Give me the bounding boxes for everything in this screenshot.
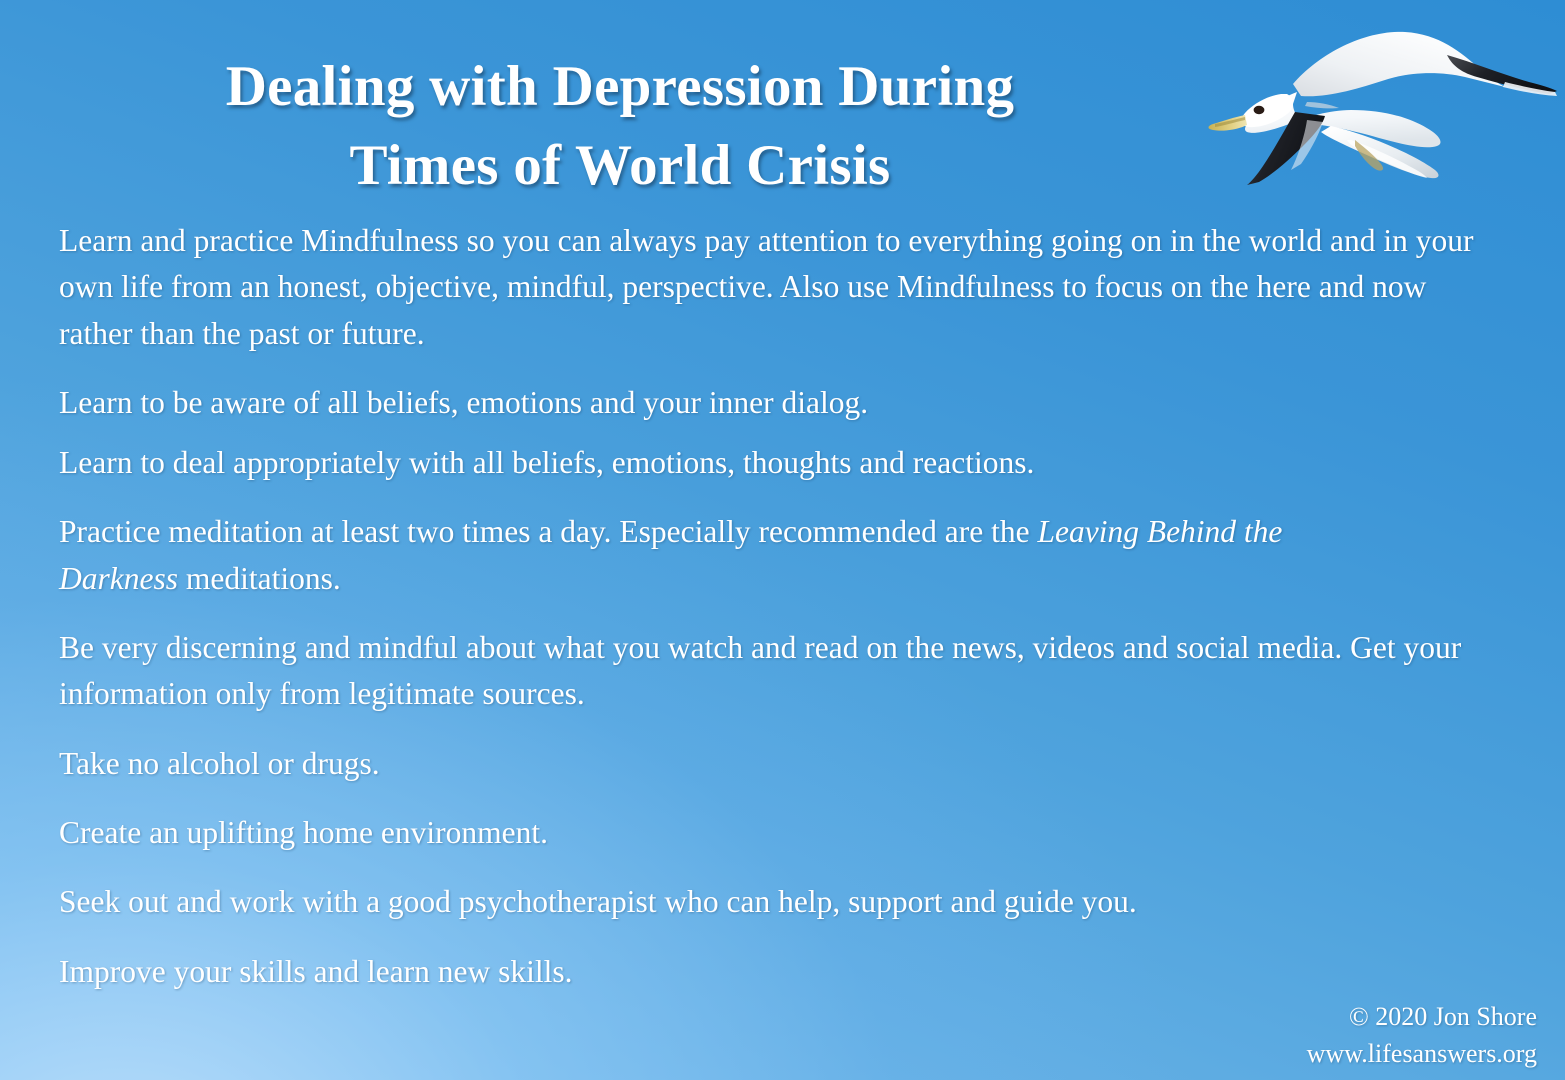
- meditation-tail: meditations.: [178, 561, 341, 596]
- advice-item-psychotherapist: Seek out and work with a good psychother…: [59, 879, 1424, 925]
- advice-item-deal-appropriately: Learn to deal appropriately with all bel…: [59, 440, 1484, 486]
- gull-eye: [1254, 106, 1265, 114]
- advice-item-aware-beliefs: Learn to be aware of all beliefs, emotio…: [59, 380, 1484, 426]
- meditation-lead: Practice meditation at least two times a…: [59, 514, 1037, 549]
- title-line-1: Dealing with Depression During: [0, 48, 1240, 127]
- advice-item-meditation: Practice meditation at least two times a…: [59, 509, 1349, 602]
- title-line-2: Times of World Crisis: [0, 127, 1240, 206]
- gull-feet: [1355, 140, 1383, 171]
- website-url: www.lifesanswers.org: [1307, 1036, 1537, 1072]
- advice-list: Learn and practice Mindfulness so you ca…: [59, 218, 1499, 1018]
- advice-item-improve-skills: Improve your skills and learn new skills…: [59, 949, 1484, 995]
- gull-upper-wingtip: [1447, 55, 1557, 94]
- advice-item-mindfulness: Learn and practice Mindfulness so you ca…: [59, 218, 1484, 357]
- gull-upper-wing-trailing-edge: [1503, 82, 1557, 96]
- gull-body: [1245, 92, 1440, 147]
- gull-lower-near-wing: [1321, 126, 1438, 178]
- gull-upper-wing: [1293, 32, 1505, 96]
- poster-canvas: Dealing with Depression During Times of …: [0, 0, 1565, 1080]
- gull-lower-wingtip: [1247, 112, 1325, 185]
- advice-item-no-alcohol: Take no alcohol or drugs.: [59, 741, 1484, 787]
- copyright-text: © 2020 Jon Shore: [1307, 999, 1537, 1035]
- page-title: Dealing with Depression During Times of …: [0, 48, 1240, 205]
- seagull-image: [1189, 14, 1561, 202]
- footer-credits: © 2020 Jon Shore www.lifesanswers.org: [1307, 999, 1537, 1072]
- advice-item-discerning-media: Be very discerning and mindful about wha…: [59, 625, 1484, 718]
- gull-feather-shading: [1305, 102, 1339, 108]
- gull-lower-wing-highlight: [1291, 120, 1323, 170]
- advice-item-uplifting-home: Create an uplifting home environment.: [59, 810, 1484, 856]
- gull-lower-near-wing-highlight: [1347, 140, 1427, 178]
- gull-head: [1242, 94, 1293, 127]
